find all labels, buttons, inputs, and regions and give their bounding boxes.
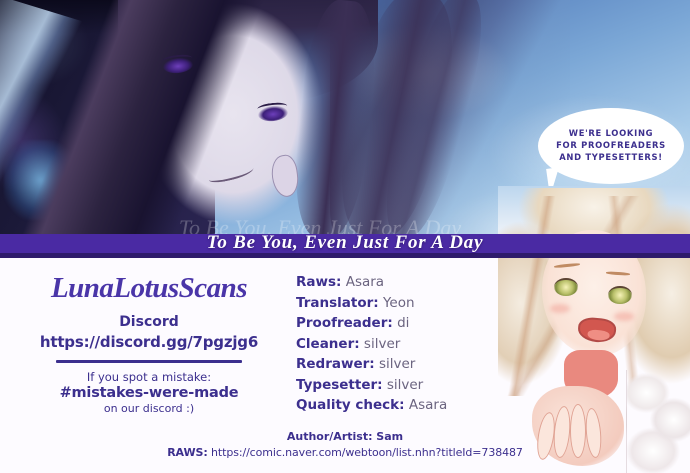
- title-banner: [0, 234, 690, 253]
- credit-role: Quality check:: [296, 397, 405, 413]
- credit-row: Translator: Yeon: [296, 293, 506, 314]
- blush-left: [550, 304, 570, 313]
- credits-list: Raws: Asara Translator: Yeon Proofreader…: [296, 272, 506, 416]
- footer: Author/Artist: Sam RAWS: https://comic.n…: [0, 430, 690, 459]
- credit-role: Redrawer:: [296, 356, 375, 372]
- mistake-note-line3: on our discord :): [10, 402, 288, 415]
- discord-url-link[interactable]: https://discord.gg/7pgzjg6: [10, 333, 288, 351]
- credit-name: silver: [387, 377, 423, 393]
- credit-row: Raws: Asara: [296, 272, 506, 293]
- mistake-channel-name: #mistakes-were-made: [10, 385, 288, 401]
- credit-row: Typesetter: silver: [296, 375, 506, 396]
- speech-bubble-text: We're looking for proofreaders and types…: [556, 128, 666, 164]
- credit-name: silver: [379, 356, 415, 372]
- mistake-note-line1: If you spot a mistake:: [10, 370, 288, 384]
- author-credit: Author/Artist: Sam: [0, 430, 690, 443]
- blonde-eye-left: [554, 278, 578, 296]
- credit-name: Asara: [409, 397, 447, 413]
- credit-role: Translator:: [296, 295, 379, 311]
- raws-source: RAWS: https://comic.naver.com/webtoon/li…: [0, 446, 690, 459]
- credit-role: Proofreader:: [296, 315, 393, 331]
- credit-row: Redrawer: silver: [296, 354, 506, 375]
- blush-right: [614, 312, 634, 321]
- credit-name: di: [397, 315, 409, 331]
- group-logo: LunaLotusScans: [10, 272, 288, 305]
- divider: [56, 360, 242, 363]
- blonde-eye-right: [608, 286, 632, 304]
- credits-page: To Be You, Even Just For A Day We're loo…: [0, 0, 690, 473]
- raws-label: RAWS:: [167, 446, 207, 459]
- scanlation-group-column: LunaLotusScans Discord https://discord.g…: [10, 266, 288, 415]
- credit-name: Yeon: [383, 295, 415, 311]
- credit-role: Typesetter:: [296, 377, 383, 393]
- credit-row: Cleaner: silver: [296, 334, 506, 355]
- credit-role: Raws:: [296, 274, 341, 290]
- credit-name: Asara: [346, 274, 384, 290]
- title-banner-shadow: [0, 253, 690, 258]
- character-hair-left: [13, 0, 283, 236]
- credit-name: silver: [364, 336, 400, 352]
- speech-bubble: We're looking for proofreaders and types…: [538, 108, 684, 184]
- credit-row: Quality check: Asara: [296, 395, 506, 416]
- discord-label: Discord: [10, 314, 288, 330]
- credit-row: Proofreader: di: [296, 313, 506, 334]
- credit-role: Cleaner:: [296, 336, 360, 352]
- raws-url-link[interactable]: https://comic.naver.com/webtoon/list.nhn…: [211, 446, 523, 459]
- artwork-ghost-title: To Be You, Even Just For A Day: [110, 215, 530, 236]
